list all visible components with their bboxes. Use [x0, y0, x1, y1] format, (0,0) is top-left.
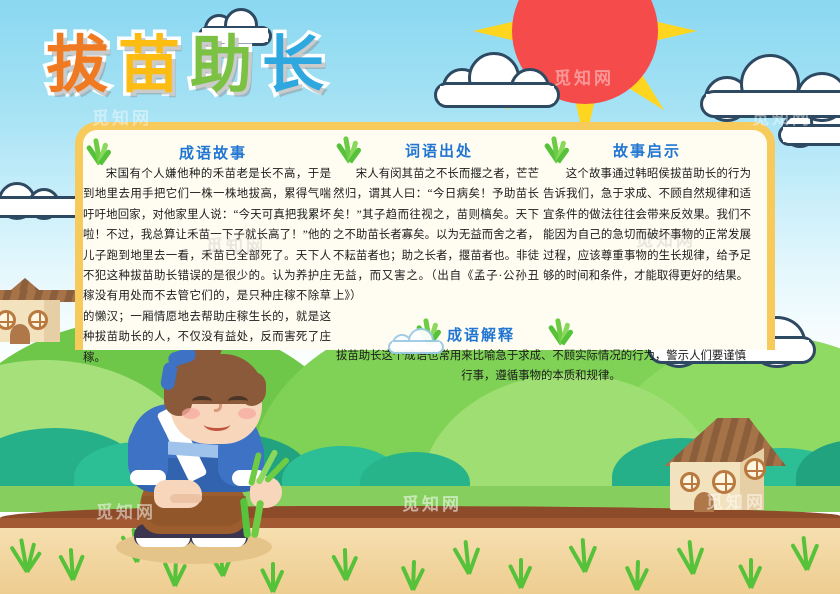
section-heading-word-origin: 词语出处	[405, 140, 473, 161]
title-char-2: 苗	[118, 14, 190, 104]
page-title: 拔苗助长	[46, 14, 334, 104]
section-heading-idiom-story: 成语故事	[179, 142, 247, 163]
grass-tuft-icon	[790, 536, 824, 570]
title-char-3: 助	[190, 14, 262, 104]
section-heading-idiom-explanation: 成语解释	[447, 324, 515, 345]
title-char-4: 长	[262, 14, 334, 104]
grass-tuft-icon	[545, 138, 571, 164]
grass-tuft-icon	[10, 538, 44, 572]
section-body-story-enlightenment: 这个故事通过韩昭侯拔苗助长的行为告诉我们，急于求成、不顾自然规律和适宜条件的做法…	[543, 164, 751, 286]
house-icon	[656, 418, 784, 514]
section-body-word-origin: 宋人有闵其苗之不长而揠之者，芒芒然归，谓其人曰：“今日病矣！予助苗长矣！”其子趋…	[333, 164, 539, 307]
panel-content: 成语故事 宋国有个人嫌他种的禾苗老是长不高，于是到地里去用手把它们一株一株地拔高…	[75, 122, 775, 422]
grass-tuft-icon	[337, 138, 363, 164]
grass-tuft-icon	[87, 140, 113, 166]
grass-tuft-icon	[568, 538, 602, 572]
title-char-1: 拔	[46, 14, 118, 104]
cloud-icon	[432, 48, 562, 110]
grass-tuft-icon	[549, 320, 575, 346]
cloud-icon	[388, 326, 446, 354]
grass-tuft-icon	[56, 546, 90, 580]
grass-tuft-icon	[676, 540, 710, 574]
grass-tuft-icon	[330, 548, 362, 580]
grass-tuft-icon	[452, 540, 486, 574]
section-heading-story-enlightenment: 故事启示	[613, 140, 681, 161]
grass-tuft-icon	[506, 558, 536, 588]
poster-canvas: 成语故事 宋国有个人嫌他种的禾苗老是长不高，于是到地里去用手把它们一株一株地拔高…	[0, 0, 840, 594]
house-icon	[0, 278, 68, 354]
grass-tuft-icon	[398, 560, 428, 590]
cloud-icon	[700, 48, 840, 120]
grass-tuft-icon	[622, 560, 652, 590]
grass-tuft-icon	[736, 558, 766, 588]
section-body-idiom-story: 宋国有个人嫌他种的禾苗老是长不高，于是到地里去用手把它们一株一株地拔高，累得气喘…	[83, 164, 331, 368]
